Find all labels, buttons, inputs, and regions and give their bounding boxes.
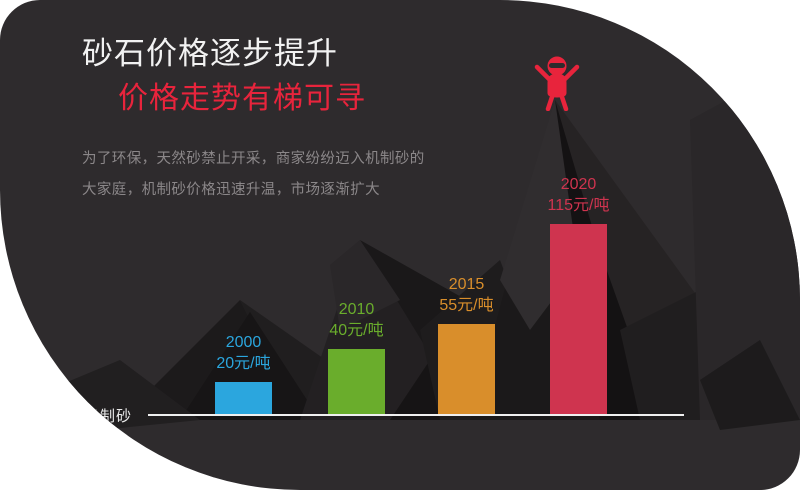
page-title: 砂石价格逐步提升 — [82, 34, 512, 74]
bar-price-2015: 55元/吨 — [439, 295, 493, 316]
headline-block: 砂石价格逐步提升 价格走势有梯可寻 — [82, 34, 512, 120]
bar-label-2000: 2000 20元/吨 — [216, 332, 270, 374]
bar-rect-2010 — [328, 349, 385, 415]
bar-price-2000: 20元/吨 — [216, 353, 270, 374]
bar-rect-2020 — [550, 224, 607, 415]
bar-year-2000: 2000 — [216, 332, 270, 353]
baseline-axis — [148, 414, 684, 416]
bar-year-2020: 2020 — [548, 174, 610, 195]
dark-panel: 砂石价格逐步提升 价格走势有梯可寻 为了环保，天然砂禁止开采，商家纷纷迈入机制砂… — [0, 0, 800, 490]
bar-rect-2015 — [438, 324, 495, 415]
bar-year-2010: 2010 — [329, 299, 383, 320]
baseline-label: 机制砂 — [84, 405, 132, 426]
bar-rect-2000 — [215, 382, 272, 415]
description-paragraph: 为了环保，天然砂禁止开采，商家纷纷迈入机制砂的大家庭，机制砂价格迅速升温，市场逐… — [82, 144, 427, 206]
bar-label-2020: 2020 115元/吨 — [548, 174, 610, 216]
bar-label-2010: 2010 40元/吨 — [329, 299, 383, 341]
bar-label-2015: 2015 55元/吨 — [439, 274, 493, 316]
bar-year-2015: 2015 — [439, 274, 493, 295]
celebrating-person-icon — [533, 53, 581, 111]
bar-price-2010: 40元/吨 — [329, 320, 383, 341]
page-subtitle: 价格走势有梯可寻 — [118, 78, 512, 120]
infographic-canvas: 砂石价格逐步提升 价格走势有梯可寻 为了环保，天然砂禁止开采，商家纷纷迈入机制砂… — [0, 0, 800, 490]
bar-price-2020: 115元/吨 — [548, 195, 610, 216]
